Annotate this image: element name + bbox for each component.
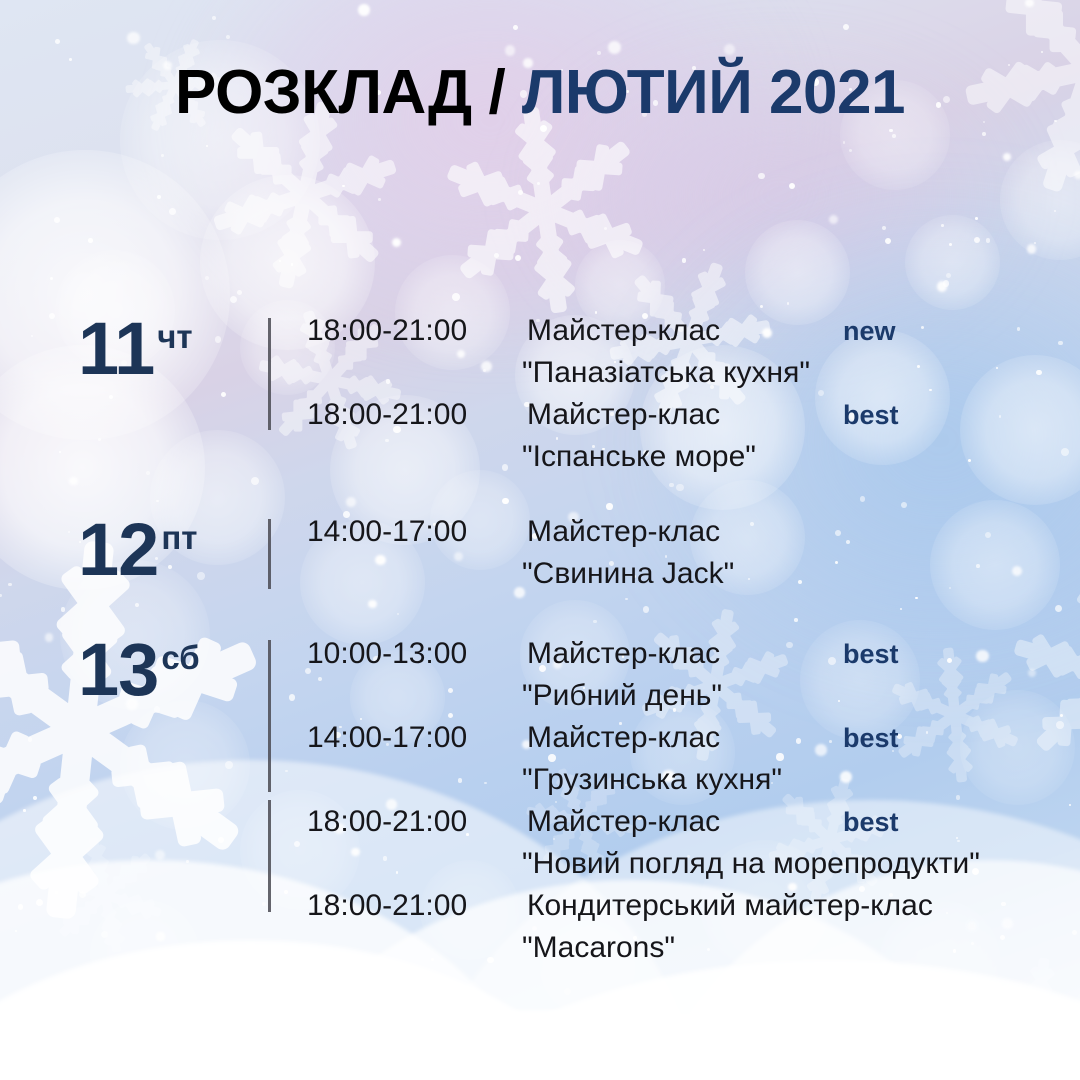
event-name: "Іспанське море"	[522, 440, 756, 474]
day-divider	[268, 640, 271, 792]
schedule-poster: РОЗКЛАД / ЛЮТИЙ 2021 11чт18:00-21:00Майс…	[0, 0, 1080, 1080]
event-kind: Майстер-клас	[527, 515, 720, 549]
day-weekday-abbr: чт	[157, 318, 192, 355]
event-kind: Кондитерський майстер-клас	[527, 889, 933, 923]
day-weekday-abbr: пт	[161, 519, 197, 556]
event-time: 10:00-13:00	[307, 637, 467, 671]
schedule-list: 11чт18:00-21:00Майстер-класnew"Паназіатс…	[0, 0, 1080, 1080]
day-number: 11чт	[78, 312, 193, 386]
event-time: 18:00-21:00	[307, 398, 467, 432]
event-tag: best	[843, 639, 899, 670]
event-tag: best	[843, 400, 899, 431]
event-kind: Майстер-клас	[527, 721, 720, 755]
event-time: 14:00-17:00	[307, 721, 467, 755]
event-kind: Майстер-клас	[527, 398, 720, 432]
event-time: 18:00-21:00	[307, 805, 467, 839]
day-number: 12пт	[78, 513, 197, 587]
event-tag: best	[843, 807, 899, 838]
event-time: 18:00-21:00	[307, 889, 467, 923]
day-divider	[268, 519, 271, 589]
event-tag: new	[843, 316, 896, 347]
day-divider	[268, 800, 271, 912]
event-name: "Грузинська кухня"	[522, 763, 782, 797]
day-number-value: 12	[78, 508, 158, 591]
event-name: "Новий погляд на морепродукти"	[522, 847, 980, 881]
day-weekday-abbr: сб	[161, 639, 199, 676]
day-number-value: 13	[78, 628, 158, 711]
day-divider	[268, 318, 271, 430]
event-name: "Паназіатська кухня"	[522, 356, 810, 390]
day-number: 13сб	[78, 633, 200, 707]
event-time: 14:00-17:00	[307, 515, 467, 549]
event-kind: Майстер-клас	[527, 637, 720, 671]
event-name: "Свинина Jack"	[522, 557, 734, 591]
event-kind: Майстер-клас	[527, 805, 720, 839]
event-tag: best	[843, 723, 899, 754]
event-kind: Майстер-клас	[527, 314, 720, 348]
event-time: 18:00-21:00	[307, 314, 467, 348]
day-number-value: 11	[78, 307, 154, 390]
event-name: "Macarons"	[522, 931, 675, 965]
event-name: "Рибний день"	[522, 679, 722, 713]
